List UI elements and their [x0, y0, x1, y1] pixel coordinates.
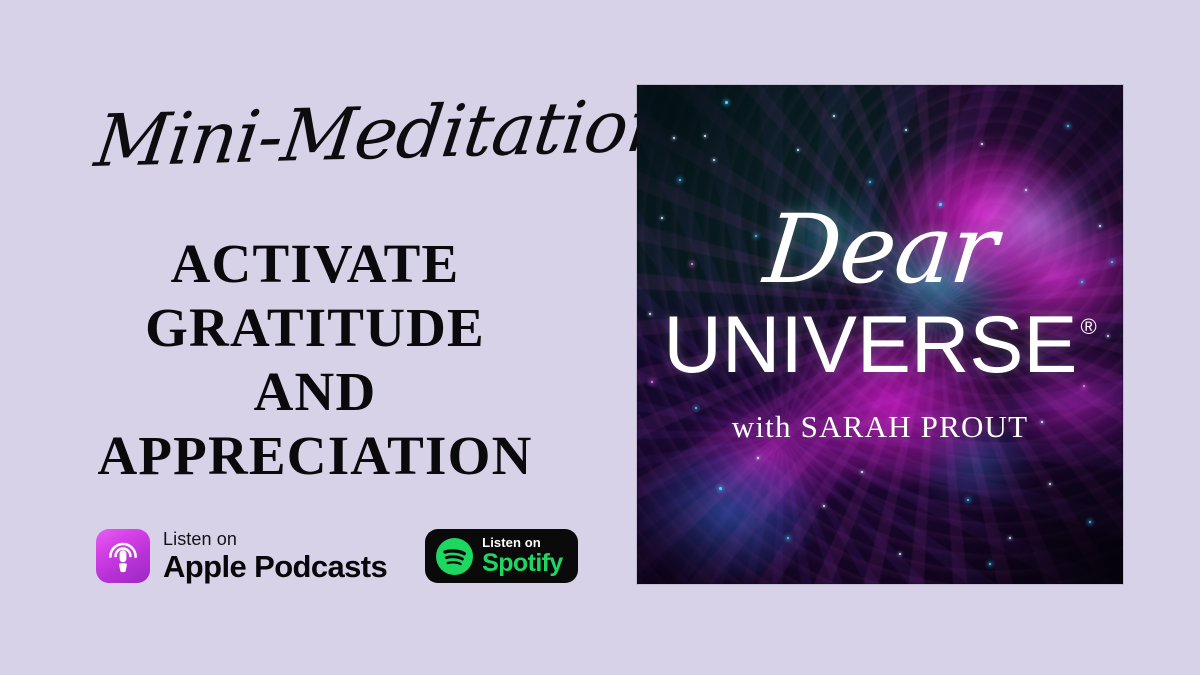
apple-podcasts-icon — [96, 529, 150, 583]
podcast-cover-art[interactable]: Dear UNIVERSE ® with SARAH PROUT — [637, 85, 1123, 584]
headline-line-4: APPRECIATION — [30, 424, 600, 488]
cover-host-line: with SARAH PROUT — [732, 411, 1029, 442]
page-title: ACTIVATE GRATITUDE AND APPRECIATION — [30, 232, 600, 488]
spotify-badge[interactable]: Listen on Spotify — [425, 529, 578, 583]
spotify-listen-label: Listen on — [482, 536, 563, 549]
apple-listen-label: Listen on — [163, 530, 387, 548]
spotify-brand-label: Spotify — [482, 551, 563, 576]
cover-script-word: Dear — [760, 203, 1000, 298]
cover-main-word-row: UNIVERSE ® — [663, 306, 1096, 385]
listen-badges: Listen on Apple Podcasts Listen on Spoti… — [96, 528, 578, 584]
headline-line-3: AND — [30, 360, 600, 424]
registered-trademark-icon: ® — [1080, 314, 1096, 340]
cover-main-word: UNIVERSE — [663, 306, 1077, 385]
script-title: Mini-Meditation — [89, 73, 585, 196]
spotify-icon — [436, 538, 473, 575]
cover-typography: Dear UNIVERSE ® with SARAH PROUT — [637, 85, 1123, 584]
apple-podcasts-badge[interactable]: Listen on Apple Podcasts — [96, 528, 387, 584]
apple-brand-label: Apple Podcasts — [163, 551, 387, 582]
left-text-panel: Mini-Meditation ACTIVATE GRATITUDE AND A… — [0, 0, 630, 675]
spotify-labels: Listen on Spotify — [482, 536, 563, 576]
headline-line-2: GRATITUDE — [30, 296, 600, 360]
apple-podcasts-labels: Listen on Apple Podcasts — [163, 530, 387, 582]
headline-line-1: ACTIVATE — [30, 232, 600, 296]
poster-canvas: Mini-Meditation ACTIVATE GRATITUDE AND A… — [0, 0, 1200, 675]
